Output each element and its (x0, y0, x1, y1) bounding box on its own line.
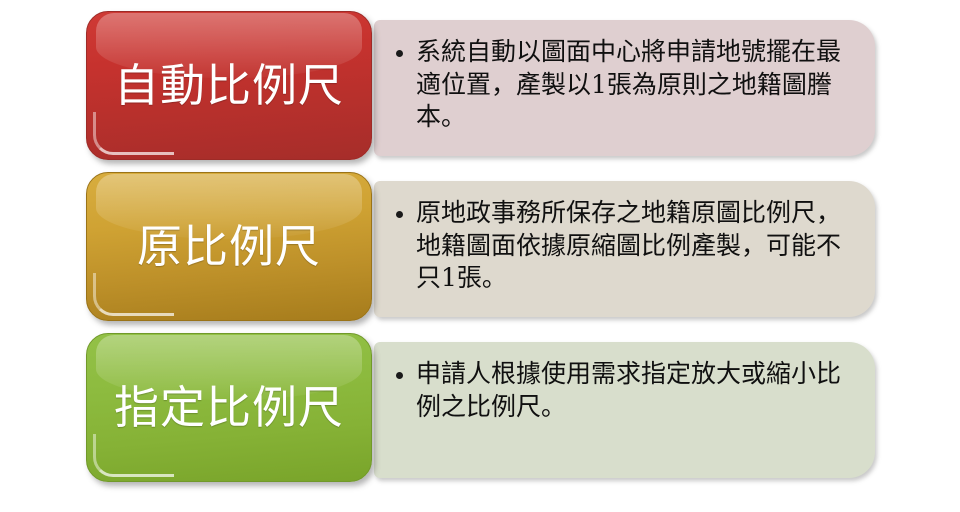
list-item: 原地政事務所保存之地籍原圖比例尺，地籍圖面依據原縮圖比例產製，可能不只1張。 (388, 197, 857, 295)
description-panel-original-scale: 原地政事務所保存之地籍原圖比例尺，地籍圖面依據原縮圖比例產製，可能不只1張。 (374, 181, 875, 317)
description-panel-specified-scale: 申請人根據使用需求指定放大或縮小比例之比例尺。 (374, 342, 875, 478)
description-list-original-scale: 原地政事務所保存之地籍原圖比例尺，地籍圖面依據原縮圖比例產製，可能不只1張。 (388, 197, 857, 295)
scale-chip-label: 自動比例尺 (114, 63, 344, 108)
scale-chip-specified-scale[interactable]: 指定比例尺 (86, 333, 372, 482)
scale-chip-label: 指定比例尺 (114, 385, 344, 430)
gloss-arc-icon (93, 112, 174, 155)
gloss-arc-icon (93, 434, 174, 477)
description-list-auto-scale: 系統自動以圖面中心將申請地號擺在最適位置，產製以1張為原則之地籍圖謄本。 (388, 36, 857, 134)
scale-chip-original-scale[interactable]: 原比例尺 (86, 172, 372, 321)
scale-row-specified-scale: 申請人根據使用需求指定放大或縮小比例之比例尺。 指定比例尺 (0, 333, 960, 483)
description-panel-auto-scale: 系統自動以圖面中心將申請地號擺在最適位置，產製以1張為原則之地籍圖謄本。 (374, 20, 875, 156)
slide-canvas: 系統自動以圖面中心將申請地號擺在最適位置，產製以1張為原則之地籍圖謄本。 自動比… (0, 0, 960, 512)
description-list-specified-scale: 申請人根據使用需求指定放大或縮小比例之比例尺。 (388, 358, 857, 423)
gloss-arc-icon (93, 273, 174, 316)
scale-row-auto-scale: 系統自動以圖面中心將申請地號擺在最適位置，產製以1張為原則之地籍圖謄本。 自動比… (0, 11, 960, 161)
list-item: 申請人根據使用需求指定放大或縮小比例之比例尺。 (388, 358, 857, 423)
scale-chip-label: 原比例尺 (137, 224, 321, 269)
list-item: 系統自動以圖面中心將申請地號擺在最適位置，產製以1張為原則之地籍圖謄本。 (388, 36, 857, 134)
scale-row-original-scale: 原地政事務所保存之地籍原圖比例尺，地籍圖面依據原縮圖比例產製，可能不只1張。 原… (0, 172, 960, 322)
scale-chip-auto-scale[interactable]: 自動比例尺 (86, 11, 372, 160)
